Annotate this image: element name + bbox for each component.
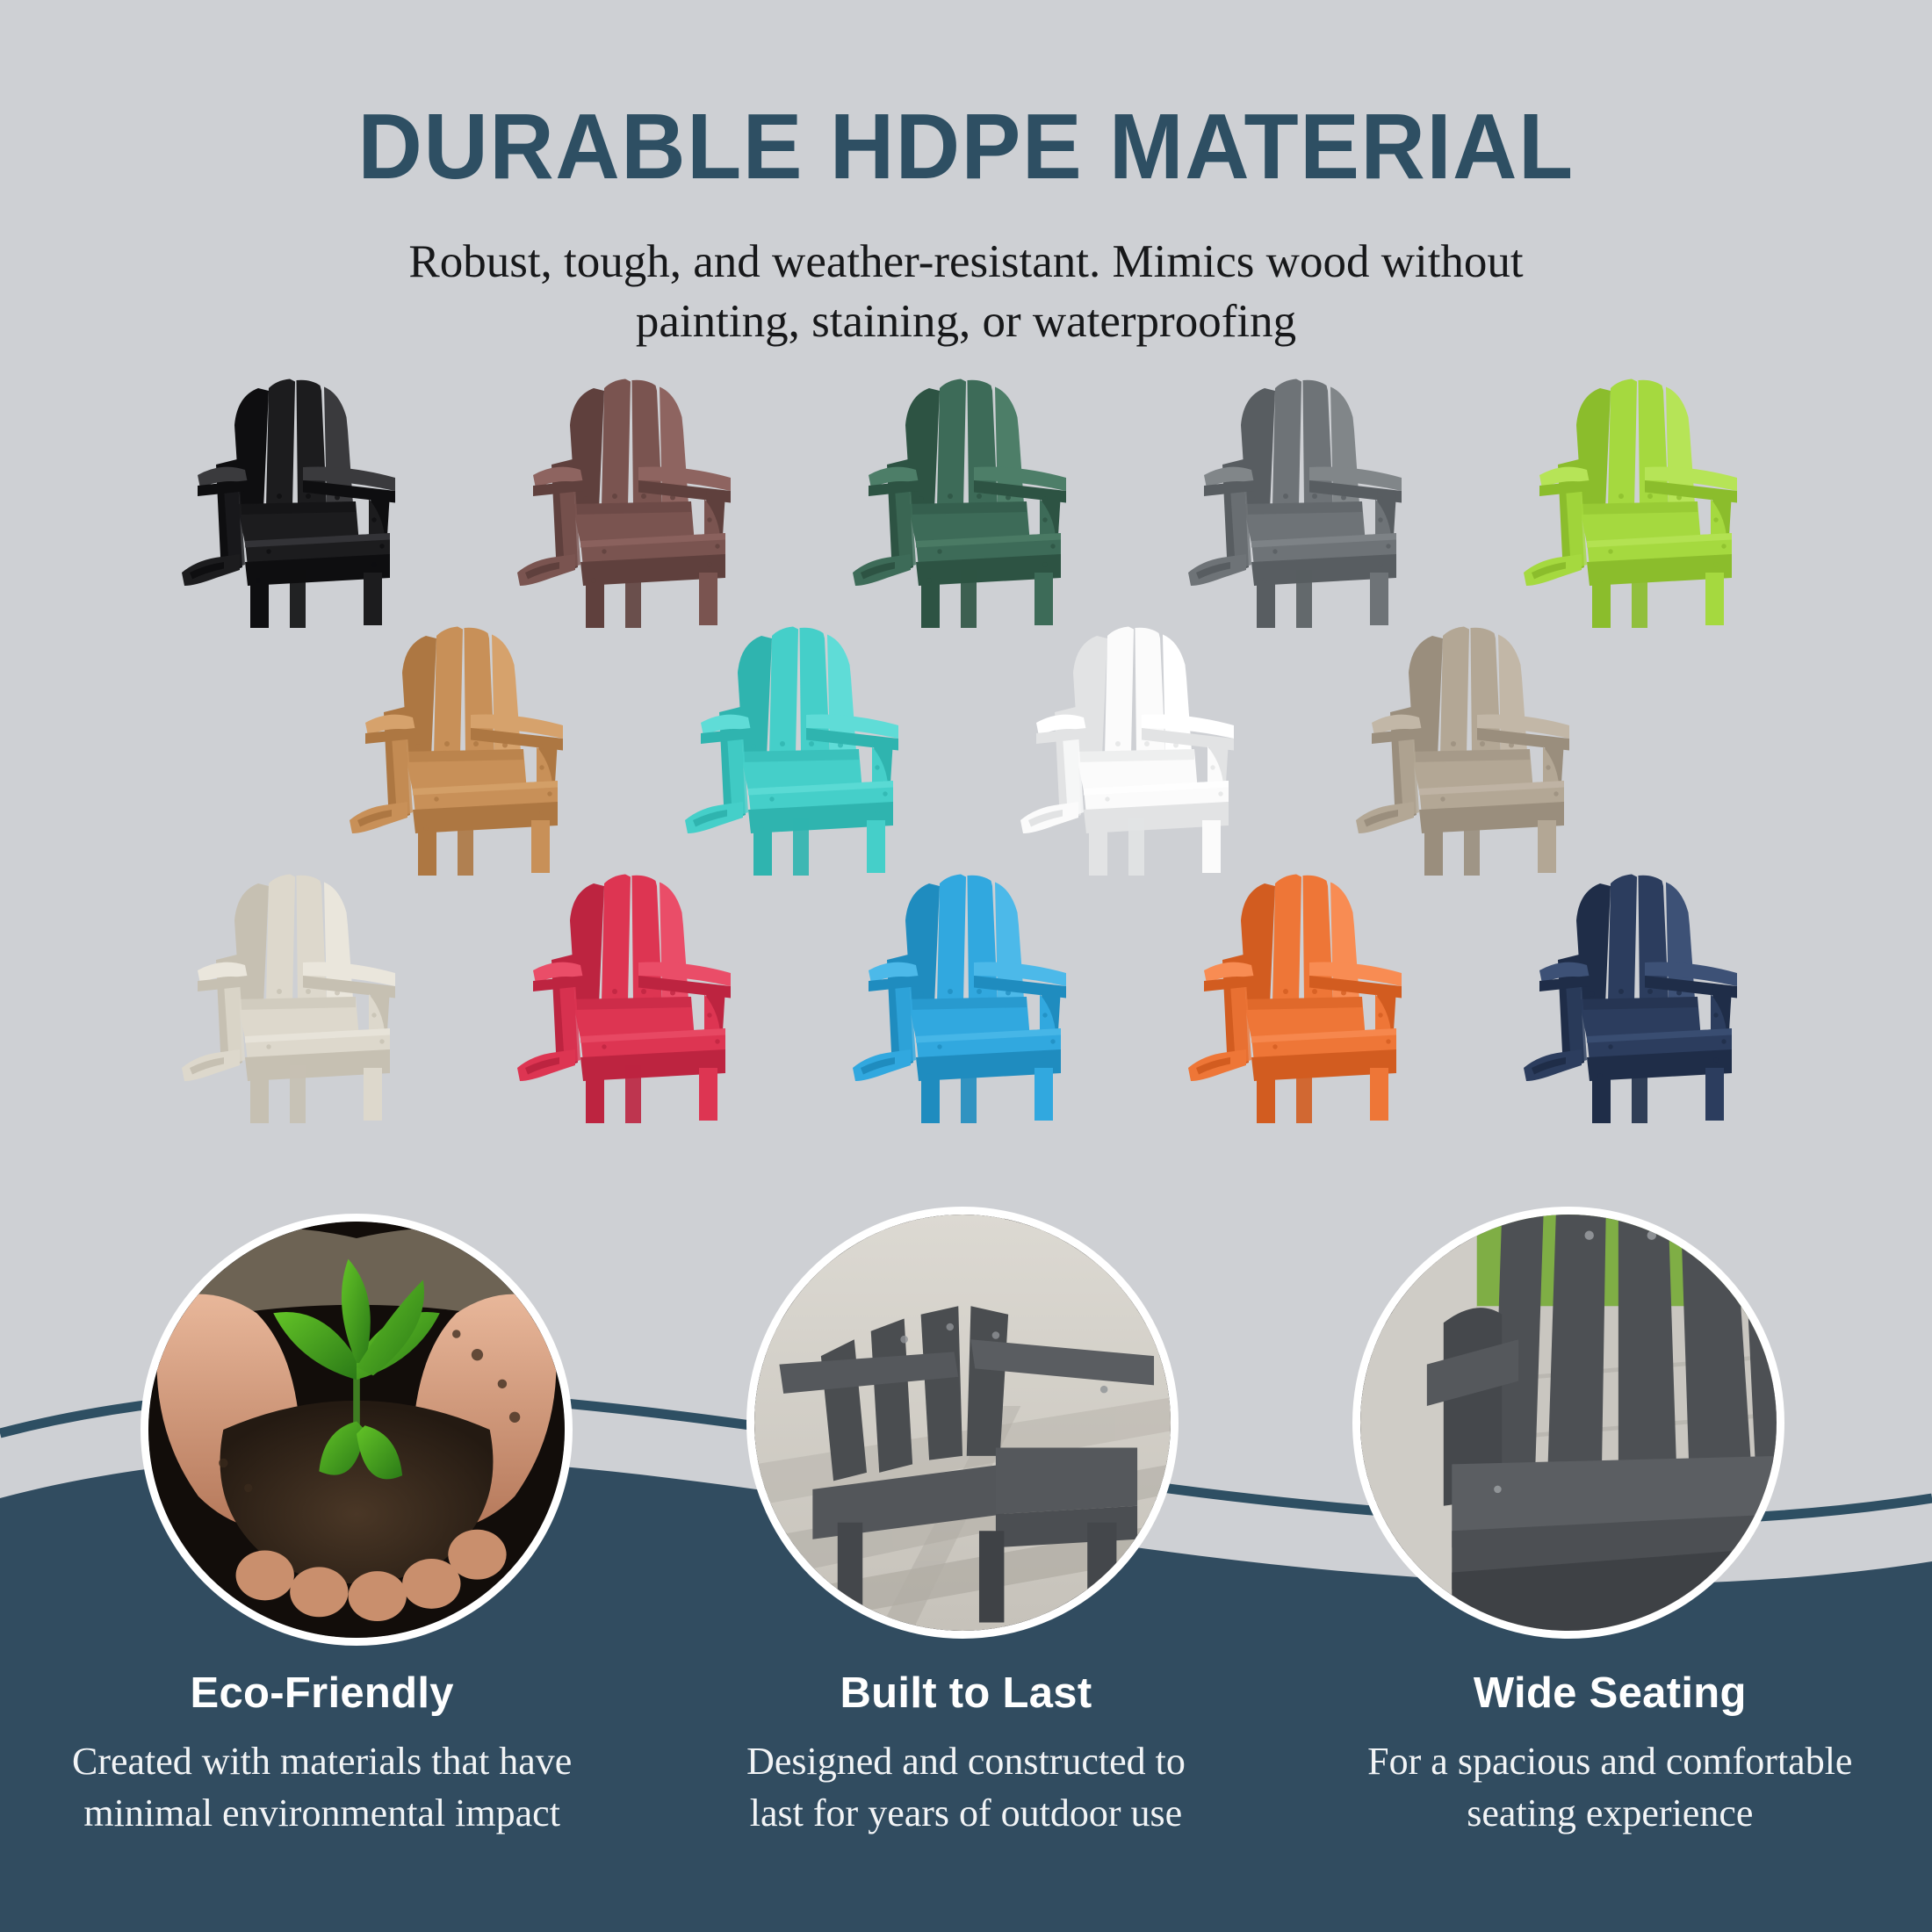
chair-swatch-navy-blue[interactable]: [1496, 862, 1777, 1126]
chair-ivory-icon: [155, 862, 436, 1126]
gray-chair-on-patio-icon: [754, 1215, 1171, 1631]
chair-row-1: [0, 367, 1932, 631]
chair-swatch-orange[interactable]: [1161, 862, 1442, 1126]
chair-swatch-white[interactable]: [993, 615, 1274, 878]
subtitle-line-1: Robust, tough, and weather-resistant. Mi…: [408, 236, 1523, 287]
chair-teak-icon: [322, 615, 603, 878]
feature-image-eco-friendly: [141, 1214, 573, 1646]
chair-taupe-icon: [1329, 615, 1610, 878]
feature-image-wide-seating: [1352, 1207, 1784, 1639]
caption-body: For a spacious and comfortable seating e…: [1323, 1736, 1897, 1839]
feature-caption-eco-friendly: Eco-Friendly Created with materials that…: [0, 1669, 644, 1839]
chair-light-blue-icon: [825, 862, 1107, 1126]
chair-orange-icon: [1161, 862, 1442, 1126]
chair-swatch-teak[interactable]: [322, 615, 603, 878]
chair-gray-icon: [1161, 367, 1442, 631]
page-title: DURABLE HDPE MATERIAL: [39, 98, 1893, 196]
chair-swatch-turquoise[interactable]: [658, 615, 939, 878]
caption-body-line-1: For a spacious and comfortable: [1367, 1740, 1852, 1783]
caption-body: Created with materials that have minimal…: [35, 1736, 609, 1839]
chair-swatch-lime-green[interactable]: [1496, 367, 1777, 631]
infographic-canvas: DURABLE HDPE MATERIAL Robust, tough, and…: [0, 0, 1932, 1932]
header-block: DURABLE HDPE MATERIAL Robust, tough, and…: [0, 98, 1932, 351]
chair-row-2: [0, 615, 1932, 878]
chair-black-icon: [155, 367, 436, 631]
wide-seat-closeup-icon: [1360, 1215, 1777, 1631]
caption-body-line-1: Created with materials that have: [72, 1740, 572, 1783]
chair-swatch-light-blue[interactable]: [825, 862, 1107, 1126]
subtitle-line-2: painting, staining, or waterproofing: [636, 296, 1296, 347]
caption-body: Designed and constructed to last for yea…: [679, 1736, 1252, 1839]
page-subtitle: Robust, tough, and weather-resistant. Mi…: [281, 233, 1651, 351]
chair-swatch-gray[interactable]: [1161, 367, 1442, 631]
chair-row-3: [0, 862, 1932, 1126]
caption-body-line-2: minimal environmental impact: [83, 1791, 560, 1835]
chair-color-grid: [0, 367, 1932, 1126]
chair-dark-green-icon: [825, 367, 1107, 631]
caption-body-line-1: Designed and constructed to: [746, 1740, 1186, 1783]
chair-swatch-ivory[interactable]: [155, 862, 436, 1126]
caption-title: Wide Seating: [1323, 1669, 1897, 1718]
feature-image-built-to-last: [746, 1207, 1179, 1639]
chair-navy-blue-icon: [1496, 862, 1777, 1126]
chair-turquoise-icon: [658, 615, 939, 878]
caption-title: Eco-Friendly: [35, 1669, 609, 1718]
caption-title: Built to Last: [679, 1669, 1252, 1718]
feature-captions-row: Eco-Friendly Created with materials that…: [0, 1669, 1932, 1839]
chair-swatch-taupe[interactable]: [1329, 615, 1610, 878]
feature-image-row: [0, 1214, 1932, 1653]
chair-swatch-dark-green[interactable]: [825, 367, 1107, 631]
feature-caption-wide-seating: Wide Seating For a spacious and comforta…: [1288, 1669, 1932, 1839]
chair-brown-icon: [490, 367, 771, 631]
feature-caption-built-to-last: Built to Last Designed and constructed t…: [644, 1669, 1287, 1839]
chair-swatch-black[interactable]: [155, 367, 436, 631]
chair-red-icon: [490, 862, 771, 1126]
caption-body-line-2: last for years of outdoor use: [750, 1791, 1182, 1835]
chair-swatch-brown[interactable]: [490, 367, 771, 631]
chair-white-icon: [993, 615, 1274, 878]
chair-swatch-red[interactable]: [490, 862, 771, 1126]
chair-lime-green-icon: [1496, 367, 1777, 631]
hands-holding-seedling-icon: [148, 1222, 565, 1638]
caption-body-line-2: seating experience: [1467, 1791, 1753, 1835]
